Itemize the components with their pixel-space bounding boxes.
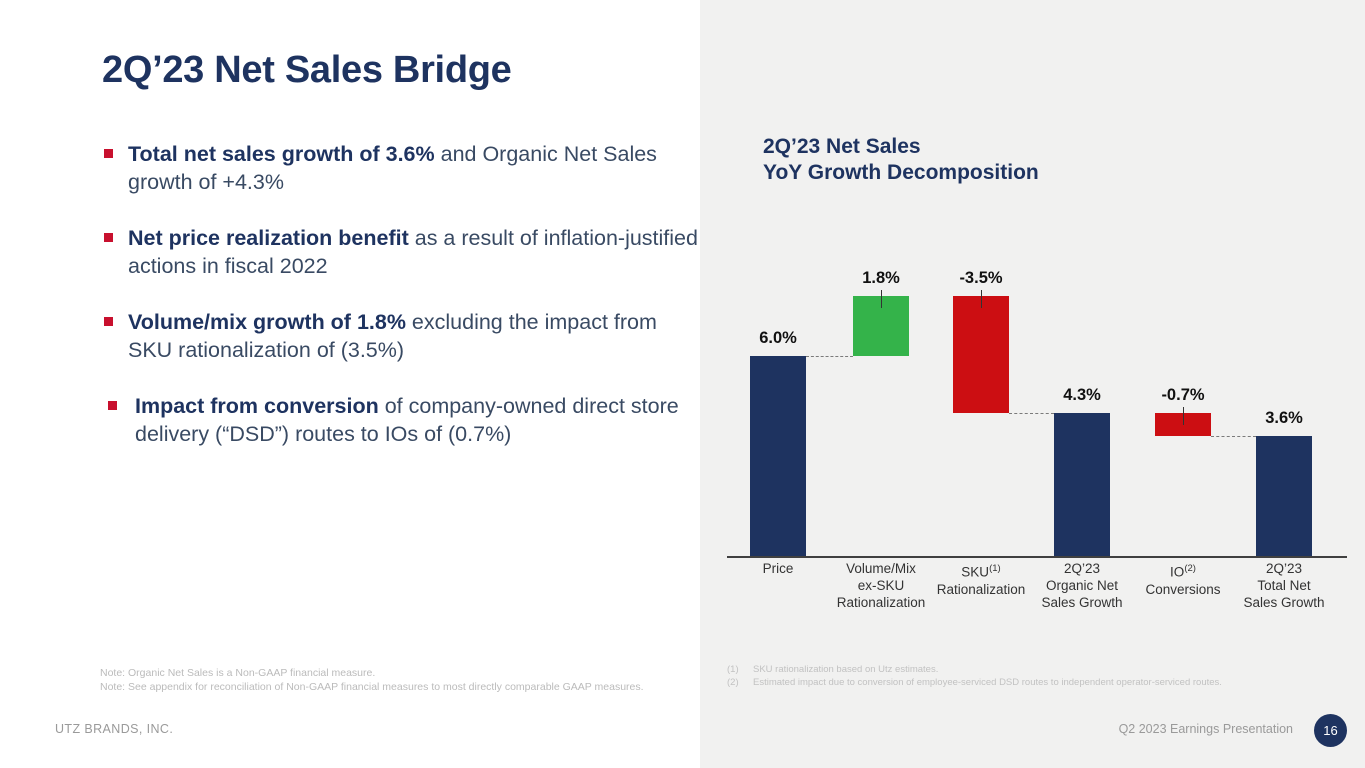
list-item: Volume/mix growth of 1.8% excluding the … — [102, 308, 702, 364]
chart-connector-line — [806, 356, 853, 357]
chart-x-label: Price — [728, 560, 829, 577]
footnote-text: Estimated impact due to conversion of em… — [753, 677, 1222, 690]
chart-x-label-line: Rationalization — [931, 581, 1032, 598]
footnote-row: (2) Estimated impact due to conversion o… — [727, 677, 1327, 690]
footer-deck-name: Q2 2023 Earnings Presentation — [1119, 722, 1293, 736]
footnote-text: SKU rationalization based on Utz estimat… — [753, 664, 938, 677]
chart-bar-value-label: 1.8% — [831, 269, 931, 288]
chart-bar-value-label: -3.5% — [931, 269, 1031, 288]
footer-company: UTZ BRANDS, INC. — [55, 722, 173, 736]
page-title: 2Q’23 Net Sales Bridge — [102, 50, 702, 92]
footnote-marker: (2) — [1184, 563, 1196, 574]
chart-x-label-line: Conversions — [1133, 581, 1234, 598]
chart-bar — [1054, 413, 1110, 556]
slide: 2Q’23 Net Sales Bridge Total net sales g… — [0, 0, 1365, 768]
chart-footnotes: (1) SKU rationalization based on Utz est… — [727, 664, 1327, 689]
bullet-square-icon — [104, 317, 113, 326]
chart-connector-line — [1211, 436, 1256, 437]
chart-x-label-line: IO(2) — [1133, 560, 1234, 581]
chart-label-dropline — [1183, 407, 1184, 425]
chart-bar — [750, 356, 806, 556]
chart-label-dropline — [981, 290, 982, 308]
chart-bar-value-label: -0.7% — [1133, 386, 1233, 405]
chart-x-label: 2Q’23Organic NetSales Growth — [1032, 560, 1133, 611]
chart-x-label-line: Volume/Mix — [831, 560, 932, 577]
chart-x-label-line: Price — [728, 560, 829, 577]
chart-x-label-line: 2Q’23 — [1234, 560, 1335, 577]
chart-x-label: IO(2)Conversions — [1133, 560, 1234, 598]
list-item-bold: Total net sales growth of 3.6% — [128, 142, 435, 166]
list-item-bold: Impact from conversion — [135, 394, 379, 418]
chart-title-line2: YoY Growth Decomposition — [763, 160, 1039, 186]
list-item-bold: Net price realization benefit — [128, 226, 409, 250]
footnote-line: Note: See appendix for reconciliation of… — [100, 680, 680, 694]
footnote-number: (1) — [727, 664, 753, 677]
chart-x-label-line: Organic Net — [1032, 577, 1133, 594]
chart-title-line1: 2Q’23 Net Sales — [763, 134, 1039, 160]
left-footnotes: Note: Organic Net Sales is a Non-GAAP fi… — [100, 666, 680, 694]
footnote-row: (1) SKU rationalization based on Utz est… — [727, 664, 1327, 677]
list-item: Total net sales growth of 3.6% and Organ… — [102, 140, 702, 196]
chart-x-axis-labels: PriceVolume/Mixex-SKURationalizationSKU(… — [715, 560, 1355, 620]
chart-x-label: Volume/Mixex-SKURationalization — [831, 560, 932, 611]
chart-connector-line — [1009, 413, 1054, 414]
bullet-square-icon — [104, 149, 113, 158]
chart-x-label-line: 2Q’23 — [1032, 560, 1133, 577]
chart-x-label-line: Sales Growth — [1234, 594, 1335, 611]
chart-bar-value-label: 3.6% — [1234, 409, 1334, 428]
chart-x-label-line: ex-SKU — [831, 577, 932, 594]
footnote-marker: (1) — [989, 563, 1001, 574]
list-item: Impact from conversion of company-owned … — [102, 392, 702, 448]
list-item: Net price realization benefit as a resul… — [102, 224, 702, 280]
chart-label-dropline — [881, 290, 882, 308]
chart-x-label: 2Q’23Total NetSales Growth — [1234, 560, 1335, 611]
chart-x-label: SKU(1)Rationalization — [931, 560, 1032, 598]
chart-bar — [1256, 436, 1312, 556]
bullet-list: Total net sales growth of 3.6% and Organ… — [102, 140, 702, 476]
footnote-line: Note: Organic Net Sales is a Non-GAAP fi… — [100, 666, 680, 680]
chart-x-label-line: Sales Growth — [1032, 594, 1133, 611]
chart-bar — [953, 296, 1009, 413]
chart-title: 2Q’23 Net Sales YoY Growth Decomposition — [763, 134, 1039, 186]
bullet-square-icon — [104, 233, 113, 242]
footnote-number: (2) — [727, 677, 753, 690]
list-item-bold: Volume/mix growth of 1.8% — [128, 310, 406, 334]
chart-x-label-line: Rationalization — [831, 594, 932, 611]
chart-x-axis — [727, 556, 1347, 558]
page-number-badge: 16 — [1314, 714, 1347, 747]
bullet-square-icon — [108, 401, 117, 410]
chart-x-label-line: Total Net — [1234, 577, 1335, 594]
chart-bar-value-label: 4.3% — [1032, 386, 1132, 405]
chart-x-label-line: SKU(1) — [931, 560, 1032, 581]
chart-bar-value-label: 6.0% — [728, 329, 828, 348]
